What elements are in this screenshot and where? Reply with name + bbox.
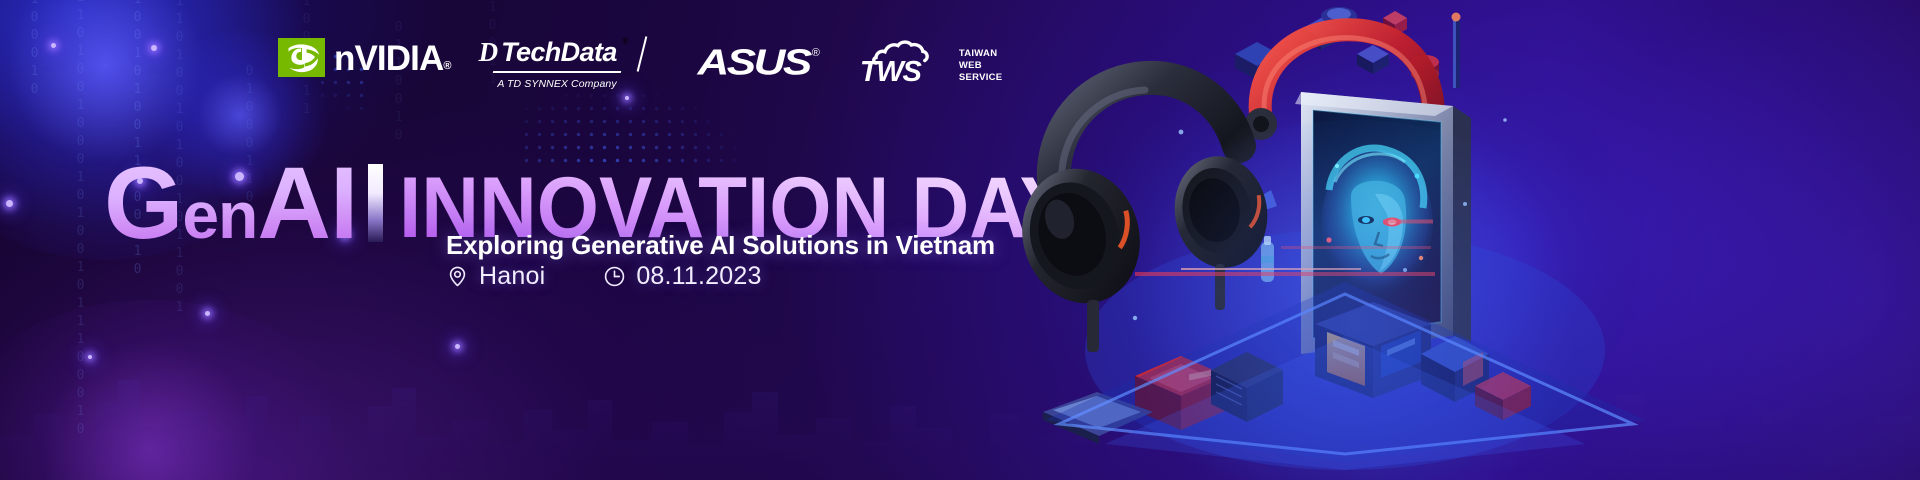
glow-dot — [51, 43, 56, 48]
genai-innovation-day-banner: 1000101101001000101001011100010100101001… — [0, 0, 1920, 480]
headline-gen-cap: G — [104, 146, 182, 260]
techdata-underline — [493, 71, 621, 73]
genai-isometric-illustration — [985, 0, 1920, 480]
tws-mark: TWS — [860, 39, 952, 87]
event-date-label: 08.11.2023 — [636, 262, 761, 291]
tws-tagline-line2: WEB — [959, 60, 982, 71]
glow-dot — [6, 200, 13, 207]
asus-wordmark: ASUS — [697, 45, 809, 81]
headline-ai: AI — [257, 146, 357, 260]
headline-genai: GenAI — [104, 160, 357, 248]
asus-registered-mark: ® — [812, 47, 820, 59]
glow-dot — [455, 344, 460, 349]
techdata-monogram: D — [479, 39, 498, 66]
event-location-label: Hanoi — [479, 262, 545, 291]
clock-icon — [603, 265, 626, 288]
nvidia-wordmark-n: n — [334, 39, 354, 78]
event-date: 08.11.2023 — [603, 262, 761, 291]
techdata-slash-accent — [637, 36, 648, 71]
partner-logo-row: nVIDIA® D TechData ® A TD SYNNEX Company… — [278, 38, 1002, 94]
techdata-registered-mark: ® — [622, 36, 629, 46]
binary-column: 1101001000101001011100010 — [74, 0, 87, 440]
banner-subtitle: Exploring Generative AI Solutions in Vie… — [446, 230, 995, 261]
tws-letters: TWS — [860, 58, 921, 87]
tws-logo[interactable]: TWS TAIWAN WEB SERVICE — [860, 39, 1003, 87]
techdata-wordmark: D TechData ® — [475, 38, 640, 69]
nvidia-registered-mark: ® — [443, 60, 450, 72]
glow-dot — [151, 45, 157, 51]
glow-dot — [205, 311, 210, 316]
asus-logo[interactable]: ASUS ® — [697, 41, 817, 85]
nvidia-wordmark: nVIDIA® — [334, 41, 451, 76]
location-pin-icon — [446, 265, 469, 288]
glow-dot — [88, 355, 92, 359]
nvidia-wordmark-rest: VIDIA — [354, 39, 443, 78]
techdata-tagline: A TD SYNNEX Company — [497, 78, 616, 90]
headline-gen-small: en — [182, 178, 257, 252]
binary-column: 100010 — [28, 0, 41, 100]
event-meta-row: Hanoi 08.11.2023 — [446, 262, 762, 291]
nvidia-eye-icon — [278, 38, 325, 77]
techdata-logo[interactable]: D TechData ® A TD SYNNEX Company — [475, 38, 640, 90]
nvidia-logo[interactable]: nVIDIA® — [278, 38, 451, 77]
violet-bottom-glow — [0, 300, 360, 480]
headline-divider — [368, 164, 383, 242]
glow-dot — [625, 96, 629, 100]
event-location: Hanoi — [446, 262, 545, 291]
techdata-name: TechData — [501, 39, 617, 66]
